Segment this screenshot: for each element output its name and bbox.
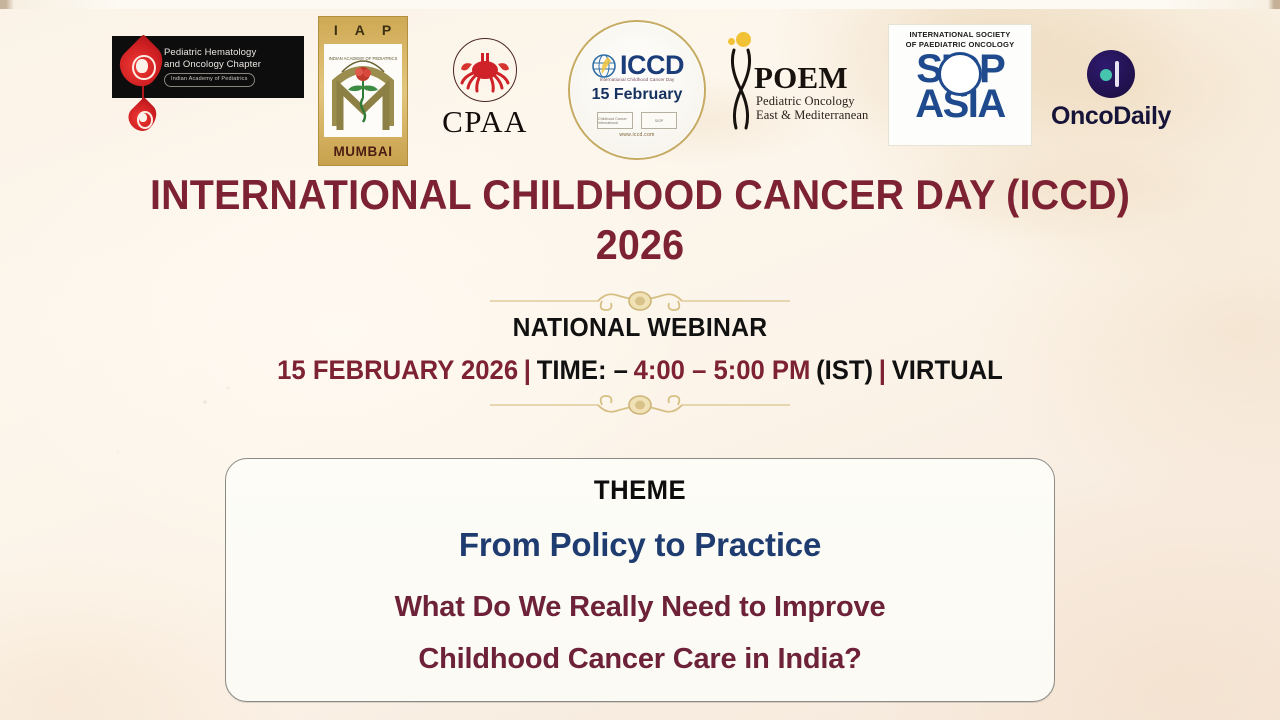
siop-header-line1: INTERNATIONAL SOCIETY: [889, 30, 1031, 40]
pho-chapter-line1: Pediatric Hematology: [164, 47, 256, 58]
iccd-partner-mark-siop: SIOP: [641, 112, 677, 129]
crab-icon: [453, 38, 517, 102]
poster-title-line2: 2026: [38, 220, 1241, 270]
blood-drop-icon: [122, 42, 162, 86]
event-timezone: (IST): [816, 355, 873, 385]
oncodaily-mark-icon: [1087, 50, 1135, 98]
iap-emblem: INDIAN ACADEMY OF PEDIATRICS: [324, 44, 402, 137]
iap-letter-i: I: [334, 22, 339, 38]
siop-header-text: INTERNATIONAL SOCIETY OF PAEDIATRIC ONCO…: [889, 25, 1031, 49]
partner-logo-strip: Pediatric Hematology and Oncology Chapte…: [0, 8, 1280, 168]
svg-text:INDIAN ACADEMY OF PEDIATRICS: INDIAN ACADEMY OF PEDIATRICS: [329, 56, 398, 61]
event-dateline: 15 FEBRUARY 2026|TIME: –4:00 – 5:00 PM(I…: [32, 355, 1248, 386]
iap-letter-p: P: [382, 22, 392, 38]
poem-subtitle-line2: East & Mediterranean: [756, 108, 884, 122]
event-mode: VIRTUAL: [892, 355, 1003, 385]
dateline-separator-2: |: [879, 355, 886, 385]
ornament-divider-top: [490, 288, 790, 314]
event-type-label: NATIONAL WEBINAR: [32, 312, 1248, 343]
poster-title-line1: INTERNATIONAL CHILDHOOD CANCER DAY (ICCD…: [38, 170, 1241, 220]
iccd-2026-webinar-poster: Pediatric Hematology and Oncology Chapte…: [0, 0, 1280, 720]
logo-pho-chapter: Pediatric Hematology and Oncology Chapte…: [108, 30, 304, 150]
iap-city-label: MUMBAI: [319, 138, 407, 165]
globe-asia-icon: [938, 52, 982, 96]
pho-chapter-text: Pediatric Hematology and Oncology Chapte…: [164, 47, 261, 87]
theme-question-line1: What Do We Really Need to Improve: [226, 581, 1054, 633]
logo-iccd-seal: ICCD International Childhood Cancer Day …: [568, 20, 706, 160]
iccd-tagline: International Childhood Cancer Day: [568, 77, 706, 82]
oncodaily-wordmark: OncoDaily: [1046, 102, 1176, 131]
theme-question-line2: Childhood Cancer Care in India?: [226, 633, 1054, 685]
ornament-divider-bottom: [490, 392, 790, 418]
blood-drop-small-icon: [130, 102, 156, 131]
logo-cpaa: CPAA: [426, 38, 544, 144]
poem-subtitle: Pediatric Oncology East & Mediterranean: [756, 94, 884, 122]
theme-label: THEME: [247, 475, 1034, 506]
chromosome-icon: [726, 48, 756, 132]
poster-title: INTERNATIONAL CHILDHOOD CANCER DAY (ICCD…: [38, 170, 1241, 270]
iccd-partner-mark-cci: Childhood Cancer International: [597, 112, 633, 129]
logo-poem: POEM Pediatric Oncology East & Mediterra…: [722, 32, 880, 144]
poem-dot-large-icon: [736, 32, 751, 47]
event-time-label: TIME: –: [537, 355, 628, 385]
iap-letter-a: A: [355, 22, 366, 38]
iccd-url: www.iccd.com: [568, 132, 706, 138]
logo-oncodaily: OncoDaily: [1046, 50, 1176, 134]
oncodaily-accent-dot: [1100, 69, 1112, 81]
globe-ribbon-icon: [590, 52, 618, 80]
theme-card: THEME From Policy to Practice What Do We…: [225, 458, 1055, 702]
theme-question: What Do We Really Need to Improve Childh…: [226, 581, 1054, 685]
theme-headline: From Policy to Practice: [226, 526, 1054, 564]
poem-dot-small-icon: [728, 38, 735, 45]
poem-wordmark: POEM: [754, 60, 848, 96]
cpaa-wordmark: CPAA: [426, 104, 544, 140]
iccd-partner-marks: Childhood Cancer International SIOP: [568, 112, 706, 129]
event-time-value: 4:00 – 5:00 PM: [634, 355, 811, 385]
event-date: 15 FEBRUARY 2026: [277, 355, 518, 385]
rose-monogram-icon: INDIAN ACADEMY OF PEDIATRICS: [326, 48, 400, 134]
iap-letters: I A P: [319, 17, 407, 43]
dateline-separator-1: |: [524, 355, 531, 385]
poem-subtitle-line1: Pediatric Oncology: [756, 94, 884, 108]
pho-chapter-line2: and Oncology Chapter: [164, 59, 261, 70]
logo-siop-asia: INTERNATIONAL SOCIETY OF PAEDIATRIC ONCO…: [888, 24, 1032, 146]
pho-chapter-subtitle: Indian Academy of Pediatrics: [164, 73, 255, 87]
logo-iap-mumbai: I A P INDIAN ACADEMY OF PEDIATRICS: [318, 16, 408, 166]
iccd-date: 15 February: [568, 86, 706, 104]
siop-wordmark-top: SIOP: [889, 50, 1031, 88]
oncodaily-stroke: [1115, 61, 1119, 87]
